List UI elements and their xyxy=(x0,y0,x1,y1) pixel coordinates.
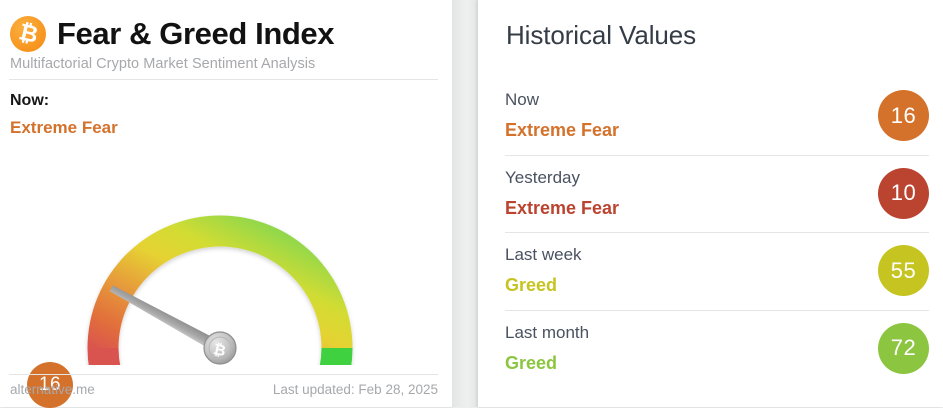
panel-gutter xyxy=(452,0,478,407)
historical-value-row: NowExtreme Fear16 xyxy=(505,78,929,156)
historical-values-title: Historical Values xyxy=(506,20,696,51)
historical-value-row: Last weekGreed55 xyxy=(505,233,929,311)
historical-row-value-badge: 55 xyxy=(878,245,929,296)
historical-row-classification: Greed xyxy=(505,275,557,296)
gauge-needle: ₿ xyxy=(108,283,236,364)
historical-value-row: YesterdayExtreme Fear10 xyxy=(505,156,929,234)
bitcoin-glyph: ₿ xyxy=(16,21,39,48)
bitcoin-icon: ₿ xyxy=(10,16,46,52)
historical-row-value-text: 16 xyxy=(891,103,916,129)
gauge-svg: ₿ xyxy=(0,135,452,365)
historical-value-row: Last monthGreed72 xyxy=(505,311,929,389)
footer-divider xyxy=(9,374,438,375)
historical-row-value-text: 72 xyxy=(891,335,916,361)
historical-row-classification: Extreme Fear xyxy=(505,198,619,219)
gauge-chart: ₿ 16 xyxy=(0,135,452,365)
historical-row-classification: Extreme Fear xyxy=(505,120,619,141)
historical-row-value-text: 10 xyxy=(891,180,916,206)
footer-source[interactable]: alternative.me xyxy=(10,382,95,397)
now-label: Now: xyxy=(10,92,49,110)
page-subtitle: Multifactorial Crypto Market Sentiment A… xyxy=(10,56,315,72)
historical-row-period: Last month xyxy=(505,323,589,343)
footer-last-updated: Last updated: Feb 28, 2025 xyxy=(273,382,438,397)
historical-row-period: Now xyxy=(505,90,539,110)
historical-row-value-badge: 10 xyxy=(878,168,929,219)
historical-row-value-text: 55 xyxy=(891,258,916,284)
historical-values-list: NowExtreme Fear16YesterdayExtreme Fear10… xyxy=(505,78,929,388)
historical-row-classification: Greed xyxy=(505,353,557,374)
fear-greed-gauge-panel: ₿ Fear & Greed Index Multifactorial Cryp… xyxy=(0,0,452,407)
historical-row-period: Last week xyxy=(505,245,582,265)
historical-row-value-badge: 16 xyxy=(878,90,929,141)
historical-row-period: Yesterday xyxy=(505,168,580,188)
header-divider xyxy=(9,79,438,80)
brand-row: ₿ Fear & Greed Index xyxy=(10,12,334,56)
historical-values-panel: Historical Values NowExtreme Fear16Yeste… xyxy=(478,0,943,407)
page-title: Fear & Greed Index xyxy=(57,16,334,52)
historical-row-value-badge: 72 xyxy=(878,323,929,374)
